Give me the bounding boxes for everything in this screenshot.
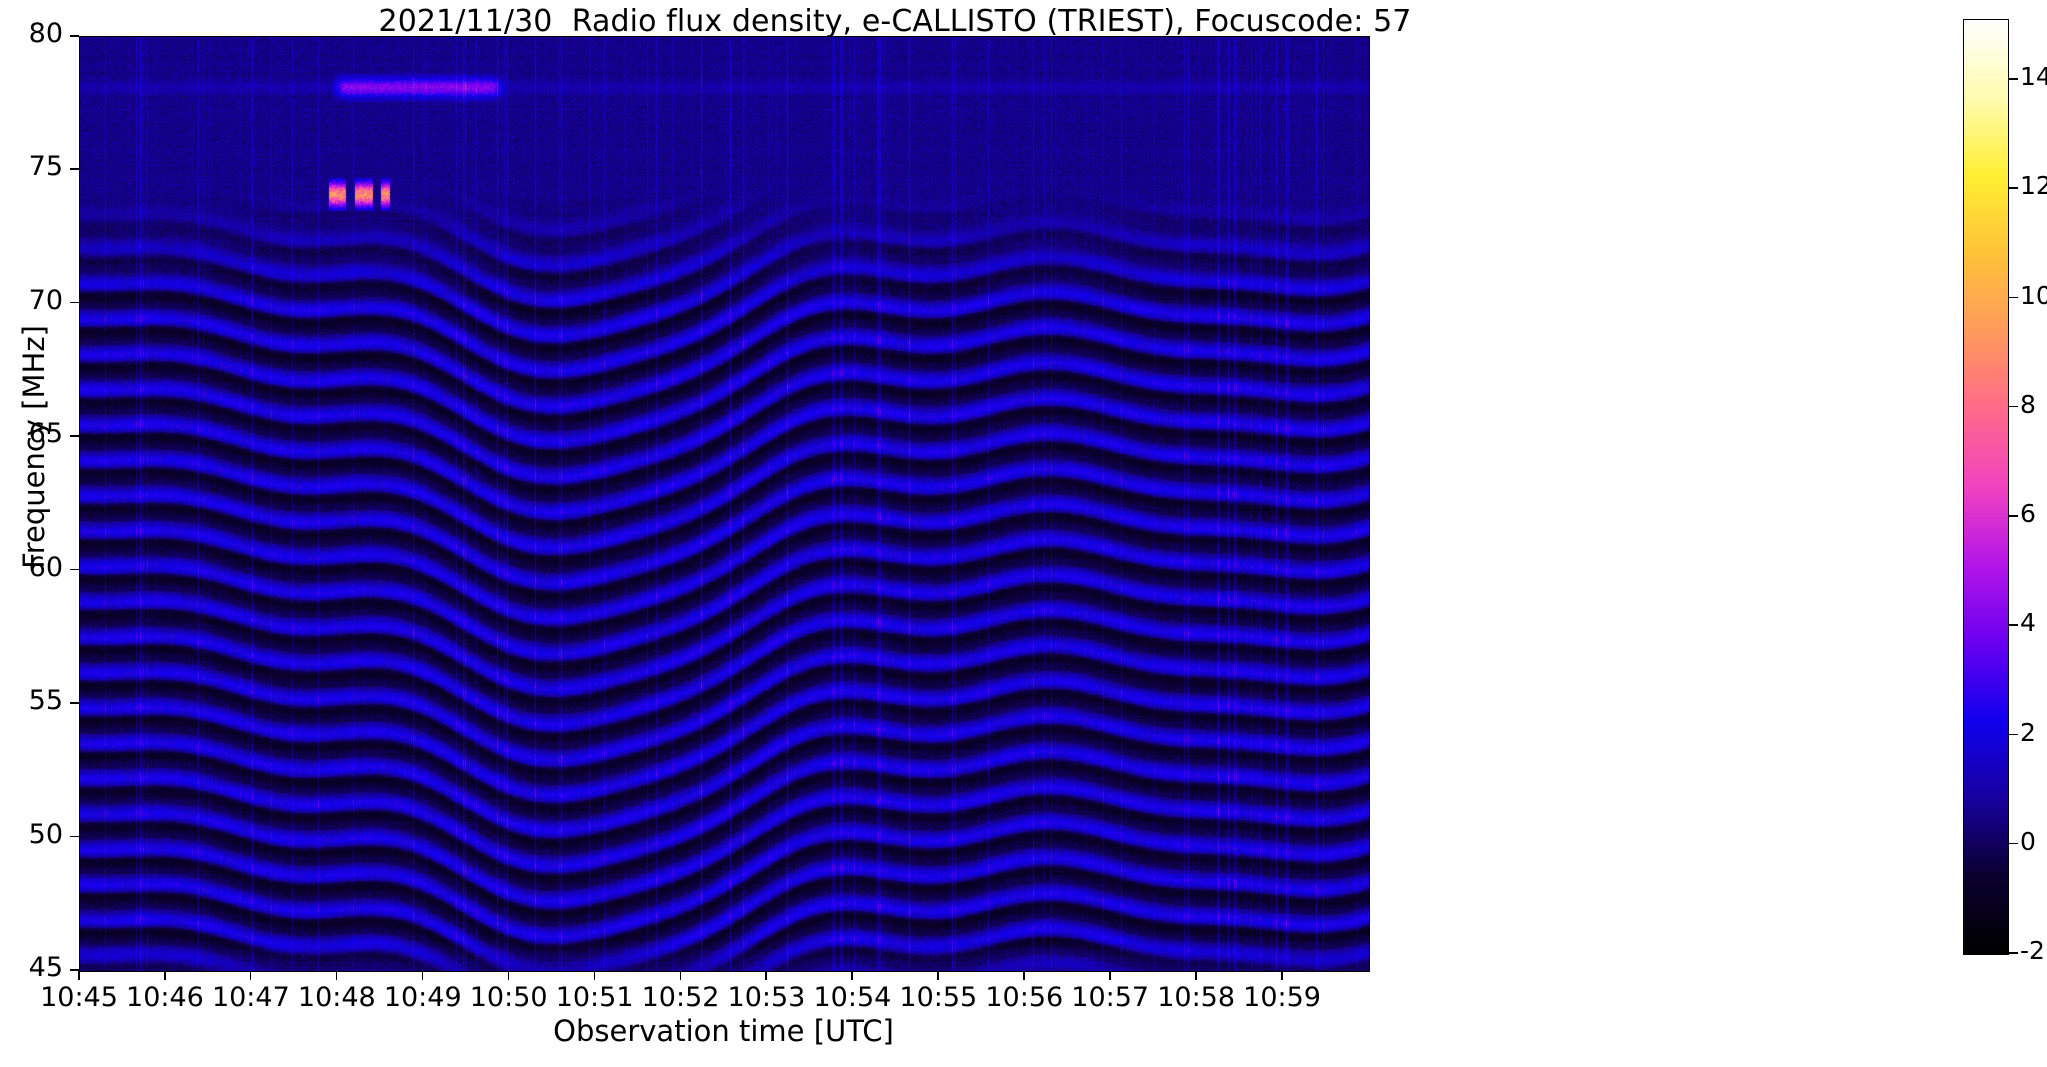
y-axis-tick-mark	[70, 569, 79, 571]
x-axis-tick-mark	[851, 971, 853, 980]
colorbar-tick-label: 8	[2020, 390, 2036, 419]
y-axis-tick-label: 80	[0, 18, 63, 49]
figure-title: 2021/11/30 Radio flux density, e-CALLIST…	[0, 4, 1790, 39]
x-axis-tick-mark	[1109, 971, 1111, 980]
y-axis-label: Frequency [MHz]	[17, 217, 51, 677]
x-axis-tick-mark	[765, 971, 767, 980]
spectrogram-image	[80, 37, 1369, 971]
x-axis-tick-mark	[594, 971, 596, 980]
colorbar-tick-label: 4	[2020, 608, 2036, 637]
colorbar-tick-mark	[2009, 734, 2018, 736]
colorbar-tick-mark	[2009, 624, 2018, 626]
x-axis-tick-mark	[164, 971, 166, 980]
x-axis-tick-mark	[78, 971, 80, 980]
x-axis-tick-mark	[1281, 971, 1283, 980]
colorbar-gradient	[1964, 20, 2008, 954]
y-axis-tick-label: 45	[0, 952, 63, 983]
colorbar-tick-label: -2	[2020, 936, 2045, 965]
y-axis-tick-mark	[70, 836, 79, 838]
x-axis-tick-mark	[1195, 971, 1197, 980]
y-axis-tick-label: 50	[0, 819, 63, 850]
x-axis-tick-mark	[336, 971, 338, 980]
x-axis-tick-mark	[680, 971, 682, 980]
x-axis-tick-mark	[1023, 971, 1025, 980]
y-axis-tick-label: 75	[0, 151, 63, 182]
colorbar-tick-label: 12	[2020, 171, 2047, 200]
colorbar	[1963, 19, 2009, 955]
colorbar-tick-mark	[2009, 843, 2018, 845]
spectrogram-plot-area	[79, 36, 1370, 972]
x-axis-tick-mark	[422, 971, 424, 980]
x-axis-label: Observation time [UTC]	[79, 1014, 1368, 1048]
colorbar-tick-mark	[2009, 297, 2018, 299]
y-axis-tick-mark	[70, 35, 79, 37]
colorbar-tick-mark	[2009, 78, 2018, 80]
y-axis-tick-mark	[70, 435, 79, 437]
colorbar-tick-label: 0	[2020, 827, 2036, 856]
colorbar-tick-mark	[2009, 952, 2018, 954]
colorbar-tick-label: 10	[2020, 281, 2047, 310]
colorbar-tick-label: 6	[2020, 499, 2036, 528]
y-axis-tick-label: 55	[0, 685, 63, 716]
colorbar-tick-label: 14	[2020, 62, 2047, 91]
x-axis-tick-mark	[508, 971, 510, 980]
colorbar-tick-mark	[2009, 406, 2018, 408]
y-axis-tick-mark	[70, 302, 79, 304]
spectrogram-figure: 2021/11/30 Radio flux density, e-CALLIST…	[0, 0, 2047, 1067]
y-axis-tick-mark	[70, 168, 79, 170]
x-axis-tick-mark	[250, 971, 252, 980]
y-axis-tick-mark	[70, 702, 79, 704]
x-axis-tick-label: 10:59	[1202, 982, 1362, 1013]
colorbar-tick-label: 2	[2020, 718, 2036, 747]
colorbar-tick-mark	[2009, 515, 2018, 517]
colorbar-tick-mark	[2009, 187, 2018, 189]
x-axis-tick-mark	[937, 971, 939, 980]
